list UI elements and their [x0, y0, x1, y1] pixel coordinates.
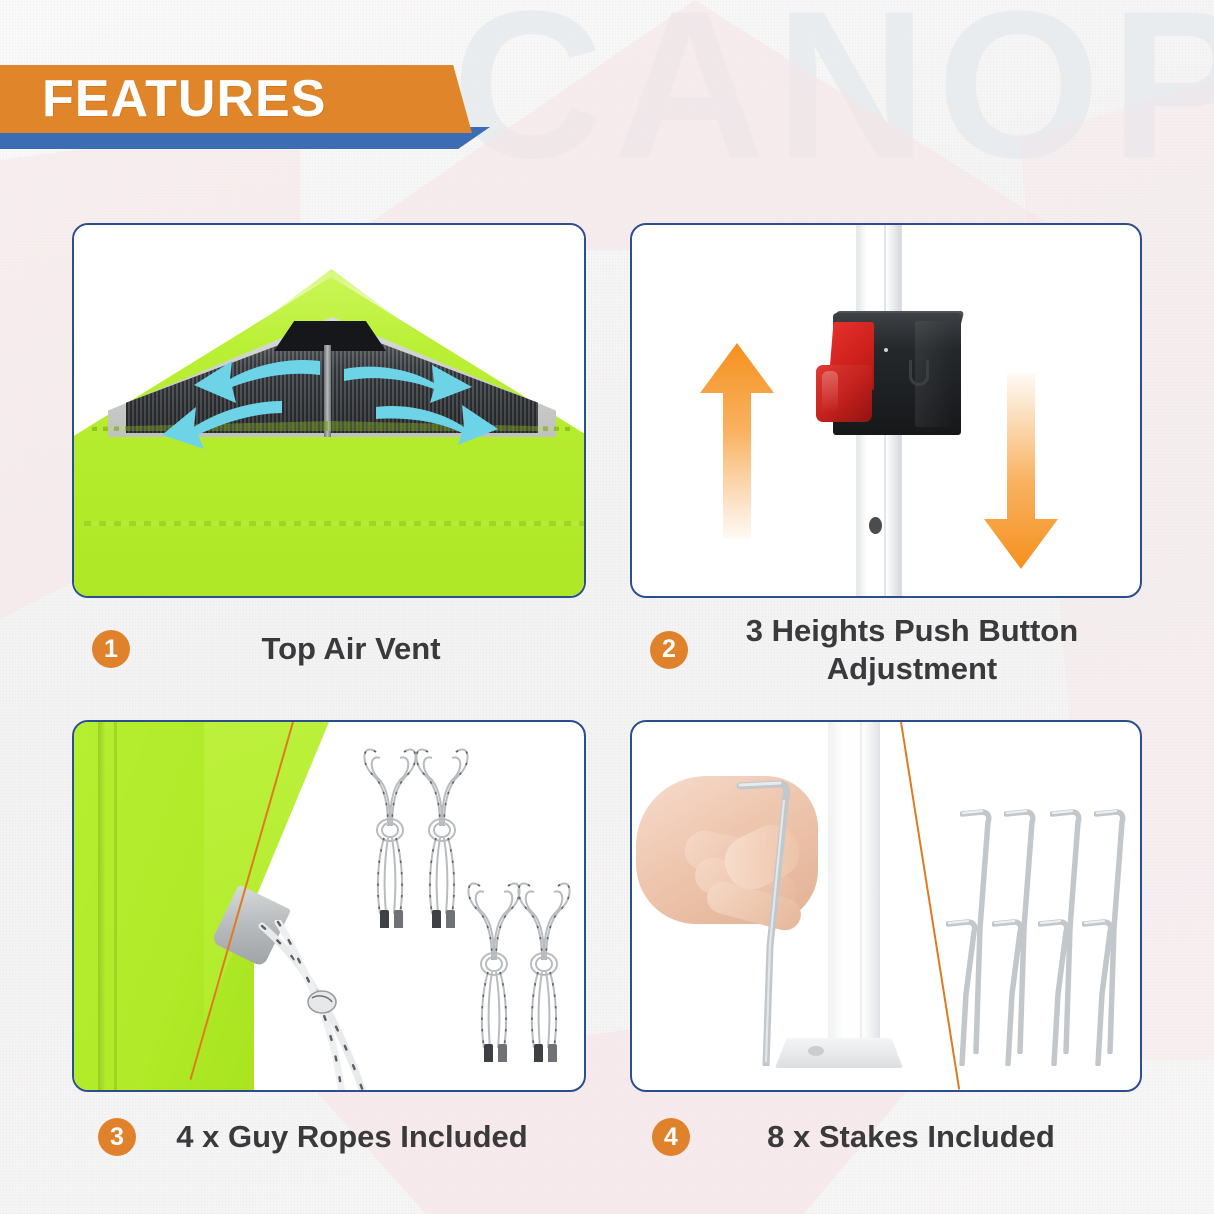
height-decrease-arrow-down-icon [984, 373, 1058, 569]
airflow-arrow-lower-left-icon [160, 395, 284, 451]
push-button-illustration [632, 225, 1140, 596]
guy-ropes-illustration [74, 722, 584, 1090]
page-title: FEATURES [42, 69, 326, 129]
feature-caption-1-text: Top Air Vent [130, 630, 572, 668]
feature-caption-3-text: 4 x Guy Ropes Included [136, 1118, 568, 1156]
feature-badge-4: 4 [652, 1118, 690, 1156]
red-button-highlight [822, 371, 838, 413]
features-banner: FEATURES [0, 65, 490, 137]
feature-panel-push-button [630, 223, 1142, 598]
stake-5 [946, 918, 982, 1066]
feature-caption-3: 3 4 x Guy Ropes Included [98, 1118, 568, 1156]
coiled-rope-4 [512, 872, 576, 1062]
canopy-edge-seam-secondary [114, 722, 117, 1092]
feature-caption-4: 4 8 x Stakes Included [652, 1118, 1132, 1156]
stake-6 [992, 918, 1028, 1066]
feature-caption-2-line1: 3 Heights Push Button [746, 613, 1078, 648]
canopy-lower-seam [84, 521, 584, 526]
canopy-edge-seam [98, 722, 105, 1092]
banner-orange-ribbon: FEATURES [0, 65, 472, 133]
attached-guy-rope [234, 920, 434, 1092]
feature-caption-1: 1 Top Air Vent [92, 630, 572, 668]
feature-badge-2: 2 [650, 631, 688, 669]
housing-pin-dot [884, 348, 888, 352]
pole-edge-line [860, 722, 862, 1052]
feature-panel-stakes [630, 720, 1142, 1092]
feature-caption-2-line2: Adjustment [827, 651, 998, 686]
air-vent-illustration [74, 225, 584, 596]
stakes-illustration [632, 722, 1140, 1090]
stake-7 [1038, 918, 1074, 1066]
stake-in-hand [728, 776, 848, 1066]
housing-u-groove-icon [909, 360, 929, 386]
feature-panel-guy-ropes [72, 720, 586, 1092]
airflow-arrow-lower-right-icon [374, 391, 500, 447]
feature-caption-2-text: 3 Heights Push Button Adjustment [688, 612, 1136, 688]
height-increase-arrow-up-icon [700, 343, 774, 539]
feature-badge-3: 3 [98, 1118, 136, 1156]
feature-badge-1: 1 [92, 630, 130, 668]
feature-caption-2: 2 3 Heights Push Button Adjustment [650, 612, 1136, 688]
feature-panel-air-vent [72, 223, 586, 598]
pole-adjustment-hole [869, 517, 882, 534]
feature-caption-4-text: 8 x Stakes Included [690, 1118, 1132, 1156]
stake-8 [1082, 918, 1118, 1066]
